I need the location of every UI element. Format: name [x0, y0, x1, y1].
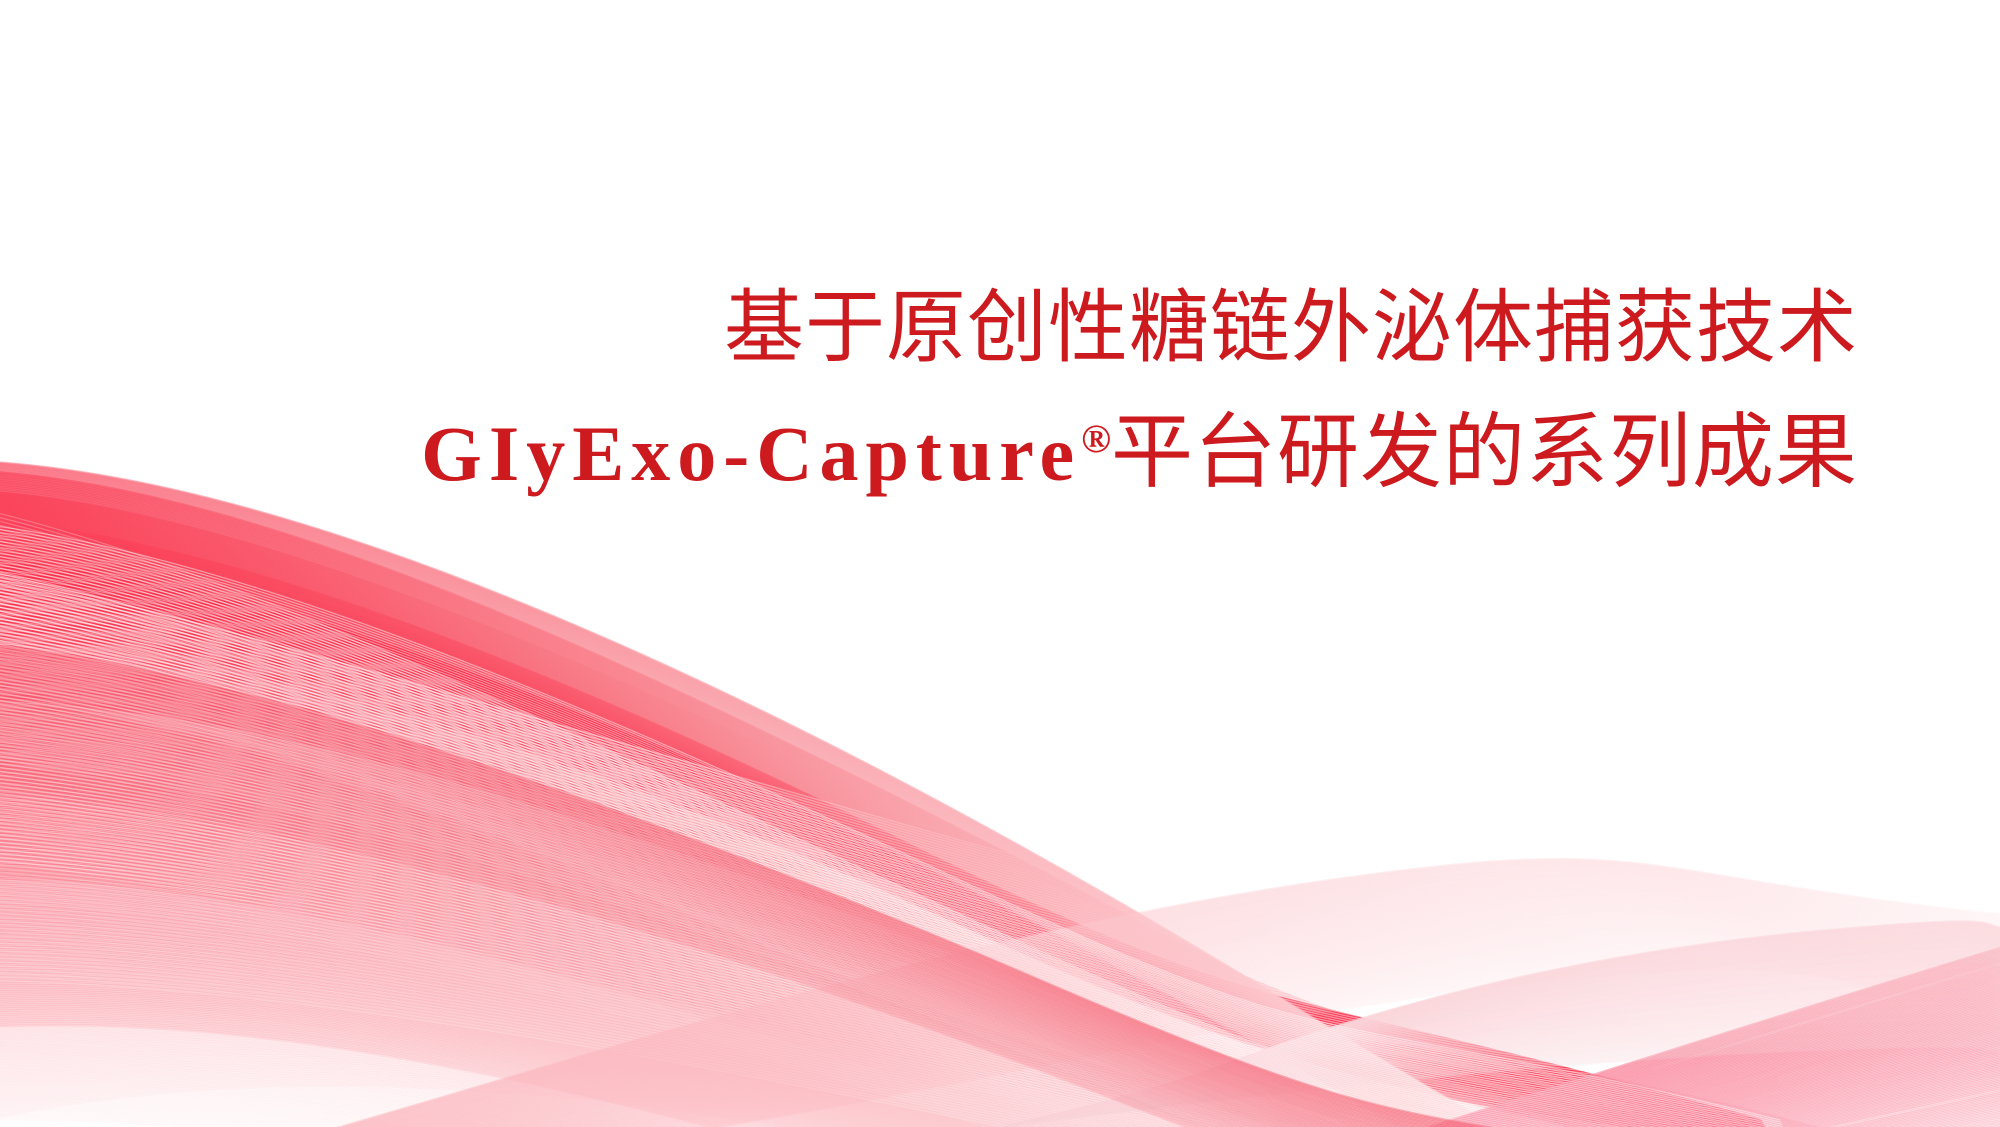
platform-name-latin: GIyExo-Capture: [421, 410, 1081, 497]
page-title-line-2: GIyExo-Capture®平台研发的系列成果: [421, 412, 1858, 494]
presentation-slide: 基于原创性糖链外泌体捕获技术 GIyExo-Capture®平台研发的系列成果: [0, 0, 2000, 1127]
page-title-line-2-cjk: 平台研发的系列成果: [1111, 405, 1858, 500]
registered-trademark-icon: ®: [1081, 416, 1111, 461]
slide-title-block: 基于原创性糖链外泌体捕获技术 GIyExo-Capture®平台研发的系列成果: [0, 0, 2000, 1127]
page-title-line-1: 基于原创性糖链外泌体捕获技术: [724, 288, 1858, 368]
